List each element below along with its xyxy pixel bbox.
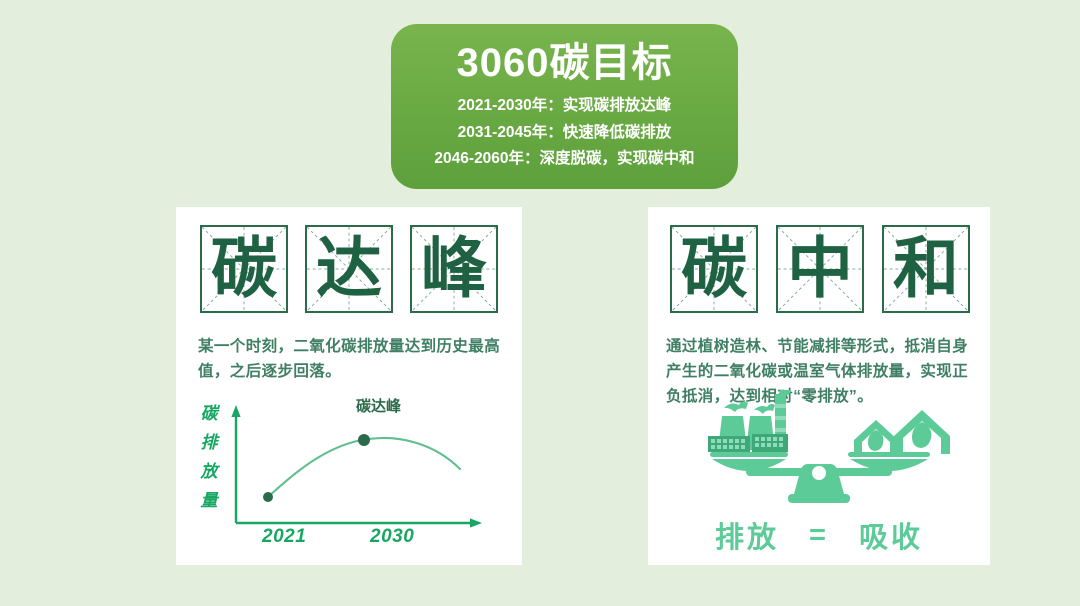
right-character-grid: 碳 中 和 — [670, 225, 970, 313]
header-line-1: 2021-2030年：实现碳排放达峰 — [458, 98, 672, 114]
header-line-2: 2031-2045年：快速降低碳排放 — [458, 125, 672, 141]
char-glyph: 碳 — [211, 236, 277, 302]
chart-curve — [268, 438, 460, 497]
balance-scale-illustration: 排放 = 吸收 — [658, 390, 980, 560]
scale-caption: 排放 = 吸收 — [658, 514, 980, 556]
char-glyph: 中 — [787, 236, 853, 302]
carbon-emission-chart: 碳 排 放 量 碳达峰 2021 2030 — [184, 397, 514, 557]
char-box-2: 达 — [305, 225, 393, 313]
carbon-peak-description: 某一个时刻，二氧化碳排放量达到历史最高值，之后逐步回落。 — [198, 334, 504, 384]
scale-fulcrum — [746, 464, 892, 503]
card-carbon-peak: 碳 达 峰 某一个时刻，二氧化碳排放量达到历史最高值，之后逐步回落。 碳 — [176, 207, 522, 565]
scale-operator: = — [809, 519, 829, 552]
card-carbon-neutral: 碳 中 和 通过植树造林、节能减排等形式，抵消自身产生的二氧化碳或温室气体排放量… — [648, 207, 990, 565]
char-box-3: 和 — [882, 225, 970, 313]
balance-scale-icon — [658, 390, 980, 515]
char-glyph: 碳 — [681, 236, 747, 302]
chart-point-2030-peak — [358, 434, 370, 446]
chart-point-2021 — [263, 492, 273, 502]
chart-x-tick-2030: 2030 — [370, 526, 414, 548]
char-box-3: 峰 — [410, 225, 498, 313]
header-line-3: 2046-2060年：深度脱碳，实现碳中和 — [434, 151, 694, 167]
char-glyph: 和 — [893, 236, 959, 302]
char-glyph: 峰 — [421, 236, 487, 302]
header-banner: 3060碳目标 2021-2030年：实现碳排放达峰 2031-2045年：快速… — [391, 24, 738, 189]
left-character-grid: 碳 达 峰 — [200, 225, 498, 313]
char-box-2: 中 — [776, 225, 864, 313]
chart-y-axis-arrow — [231, 405, 240, 417]
page-title: 3060碳目标 — [457, 40, 673, 87]
chart-plot — [184, 397, 514, 557]
chart-peak-annotation: 碳达峰 — [356, 395, 401, 416]
char-box-1: 碳 — [200, 225, 288, 313]
scale-left-label: 排放 — [715, 514, 779, 556]
factory-icon — [708, 390, 791, 452]
eco-house-icon — [854, 410, 950, 454]
char-box-1: 碳 — [670, 225, 758, 313]
scale-right-label: 吸收 — [859, 514, 923, 556]
char-glyph: 达 — [316, 236, 382, 302]
chart-x-tick-2021: 2021 — [262, 526, 306, 548]
chart-x-axis-arrow — [470, 518, 482, 527]
